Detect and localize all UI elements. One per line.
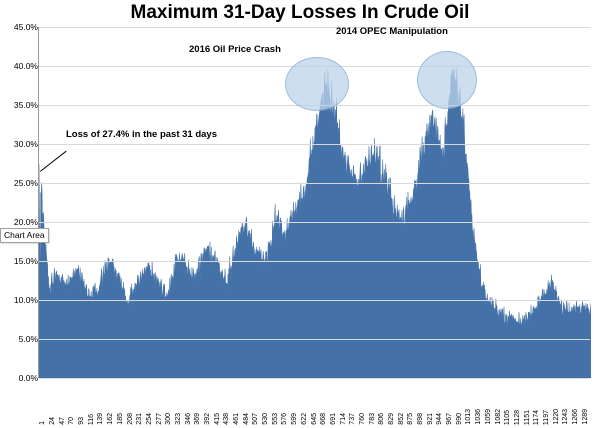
x-axis-tick-label: 553 (272, 413, 279, 425)
x-axis-tick-label: 530 (262, 413, 269, 425)
annotation-current-loss: Loss of 27.4% in the past 31 days (66, 129, 217, 140)
x-axis-tick-label: 875 (407, 413, 414, 425)
x-axis-tick-label: 622 (301, 413, 308, 425)
gridline (39, 183, 590, 184)
x-axis-tick-label: 576 (281, 413, 288, 425)
x-axis-tick-label: 668 (320, 413, 327, 425)
x-axis-tick-label: 1174 (533, 410, 540, 425)
y-axis-tick-label: 40.0% (2, 61, 38, 71)
y-axis-tick-label: 35.0% (2, 100, 38, 110)
x-axis-tick-label: 369 (194, 413, 201, 425)
chart-area-tooltip: Chart Area (0, 228, 49, 243)
annotation-2016-crash: 2016 Oil Price Crash (189, 44, 281, 55)
x-axis-tick-label: 967 (446, 413, 453, 425)
highlight-ellipse-2016-crash (285, 57, 349, 111)
x-axis-tick-label: 1105 (504, 410, 511, 425)
x-axis-tick-label: 1059 (485, 409, 492, 425)
y-axis-tick-label: 0.0% (2, 373, 38, 383)
y-axis-tick-label: 20.0% (2, 217, 38, 227)
x-axis-tick-label: 1266 (572, 409, 579, 425)
x-axis-tick-label: 1013 (465, 409, 472, 425)
y-axis-tick-label: 5.0% (2, 334, 38, 344)
x-axis-tick-label: 116 (88, 414, 95, 425)
x-axis-tick-label: 484 (243, 413, 250, 425)
x-axis-tick-label: 438 (223, 413, 230, 425)
x-axis-tick-label: 1151 (524, 410, 531, 425)
x-axis-tick-label: 1289 (582, 409, 589, 425)
annotation-2014-opec: 2014 OPEC Manipulation (336, 26, 448, 37)
gridline (39, 27, 590, 28)
x-axis-tick-label: 852 (398, 413, 405, 425)
x-axis-tick-label: 990 (456, 413, 463, 425)
chart-title: Maximum 31-Day Losses In Crude Oil (0, 2, 600, 24)
x-axis-tick-label: 737 (349, 413, 356, 425)
x-axis-tick-label: 300 (165, 413, 172, 425)
x-axis-tick-label: 714 (340, 413, 347, 425)
highlight-ellipse-2014-opec (417, 51, 477, 109)
x-axis-tick-label: 599 (291, 413, 298, 425)
x-axis-tick-label: 1197 (543, 410, 550, 425)
x-axis-tick-label: 254 (146, 413, 153, 425)
x-axis-tick-label: 24 (49, 417, 56, 425)
x-axis-tick-label: 1220 (553, 409, 560, 425)
x-axis-tick-label: 277 (156, 413, 163, 425)
y-axis-tick-label: 25.0% (2, 178, 38, 188)
x-axis-labels: 1244770931161391621852082312542773003233… (38, 379, 590, 427)
x-axis-tick-label: 507 (252, 413, 259, 425)
y-axis-tick-label: 15.0% (2, 256, 38, 266)
x-axis-tick-label: 1128 (514, 410, 521, 425)
x-axis-tick-label: 1 (39, 421, 46, 425)
chart-root: Maximum 31-Day Losses In Crude Oil 0.0%5… (0, 0, 600, 428)
x-axis-tick-label: 806 (378, 413, 385, 425)
x-axis-tick-label: 139 (97, 413, 104, 425)
x-axis-tick-label: 415 (214, 413, 221, 425)
x-axis-tick-label: 392 (204, 413, 211, 425)
gridline (39, 261, 590, 262)
y-axis-tick-label: 30.0% (2, 139, 38, 149)
x-axis-tick-label: 231 (136, 413, 143, 425)
x-axis-tick-label: 461 (233, 413, 240, 425)
x-axis-tick-label: 829 (388, 413, 395, 425)
x-axis-tick-label: 1036 (475, 409, 482, 425)
x-axis-tick-label: 93 (78, 417, 85, 425)
x-axis-tick-label: 346 (185, 413, 192, 425)
gridline (39, 222, 590, 223)
area-series-path (39, 69, 591, 378)
gridline (39, 144, 590, 145)
x-axis-tick-label: 691 (330, 413, 337, 425)
x-axis-tick-label: 1243 (562, 409, 569, 425)
x-axis-tick-label: 760 (359, 413, 366, 425)
x-axis-tick-label: 70 (68, 417, 75, 425)
x-axis-tick-label: 921 (427, 413, 434, 425)
x-axis-tick-label: 783 (369, 413, 376, 425)
x-axis-tick-label: 47 (59, 417, 66, 425)
x-axis-tick-label: 898 (417, 413, 424, 425)
x-axis-tick-label: 645 (311, 413, 318, 425)
x-axis-tick-label: 185 (117, 413, 124, 425)
x-axis-tick-label: 944 (436, 413, 443, 425)
gridline (39, 339, 590, 340)
x-axis-tick-label: 208 (127, 413, 134, 425)
x-axis-tick-label: 1082 (495, 409, 502, 425)
y-axis-tick-label: 10.0% (2, 295, 38, 305)
gridline (39, 300, 590, 301)
x-axis-tick-label: 323 (175, 413, 182, 425)
x-axis-tick-label: 162 (107, 413, 114, 425)
